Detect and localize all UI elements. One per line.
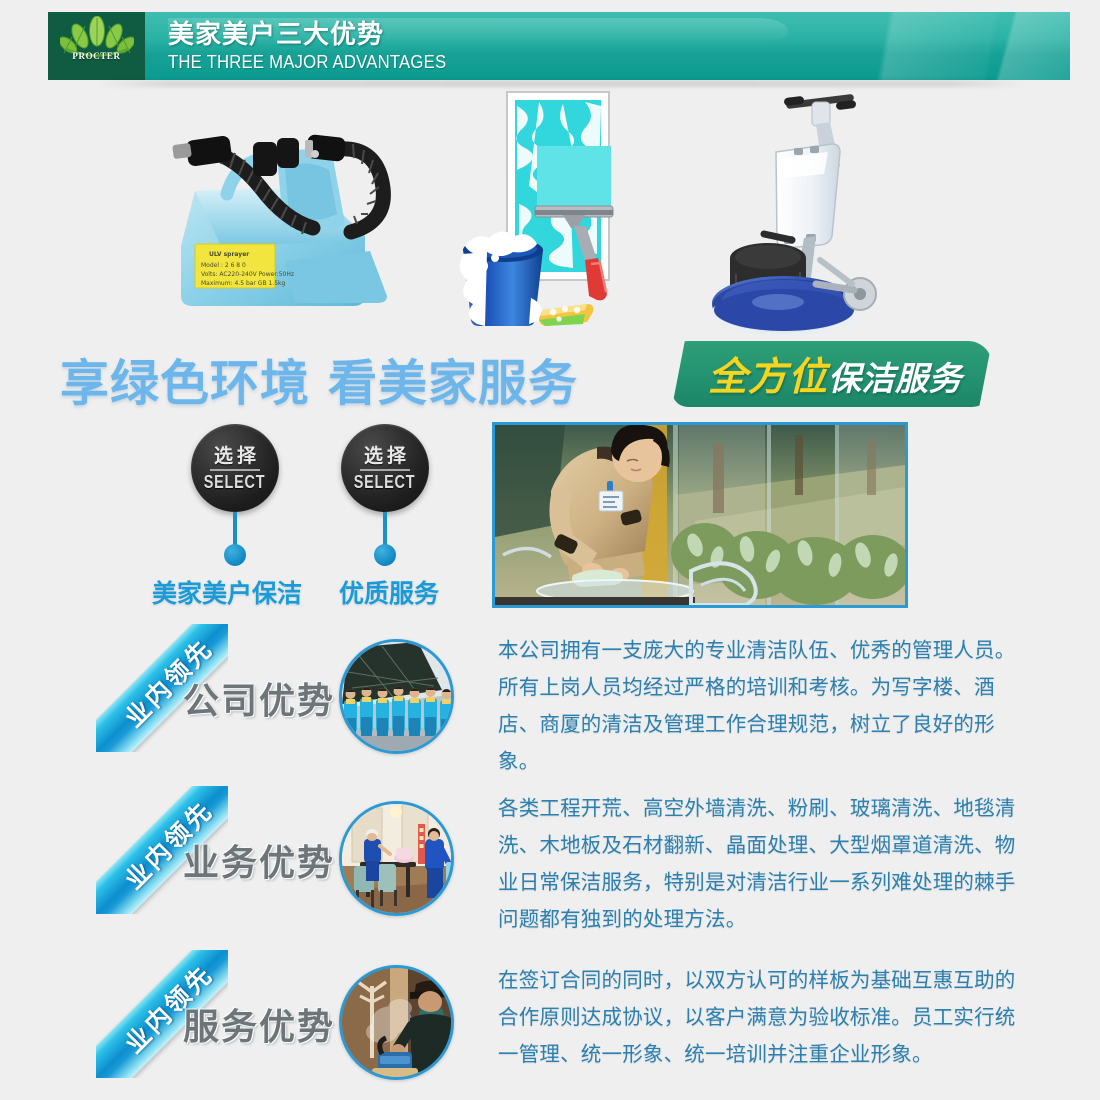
select-badge-2[interactable]: 选择 SELECT 优质服务 xyxy=(310,424,460,512)
advantage-title-business: 业务优势 xyxy=(183,834,335,886)
select-badge-1[interactable]: 选择 SELECT 美家美户保洁 xyxy=(160,424,310,512)
product-image-floor-polisher xyxy=(712,88,937,336)
select-circle-icon[interactable]: 选择 SELECT xyxy=(191,424,279,512)
advantage-text-business: 各类工程开荒、高空外墙清洗、粉刷、玻璃清洗、地毯清洗、木地板及石材翻新、晶面处理… xyxy=(498,790,1018,938)
svg-text:ULV sprayer: ULV sprayer xyxy=(209,251,249,258)
service-badge-rest: 保洁服务 xyxy=(828,352,962,400)
page-header: PROCTER 美家美户三大优势 THE THREE MAJOR ADVANTA… xyxy=(48,12,1070,80)
brand-logo[interactable]: PROCTER xyxy=(48,12,145,80)
header-title-en: THE THREE MAJOR ADVANTAGES xyxy=(168,50,446,74)
header-title-cn: 美家美户三大优势 xyxy=(168,20,467,50)
select-badge-1-en: SELECT xyxy=(204,473,266,492)
advantage-title-service: 服务优势 xyxy=(183,998,335,1050)
advantage-title-company: 公司优势 xyxy=(183,672,335,724)
hero-photo-cleaner xyxy=(492,422,908,608)
advantage-thumb-team xyxy=(339,639,454,754)
header-sheen-right xyxy=(920,12,1070,80)
select-badge-2-label: 优质服务 xyxy=(314,574,464,610)
advantage-text-service: 在签订合同的同时，以双方认可的样板为基础互惠互助的合作原则达成协议，以客户满意为… xyxy=(498,962,1018,1073)
product-image-row: ULV sprayer Model : 2 6 8 0 Volts: AC220… xyxy=(0,88,1100,338)
advantage-block-service: 业内领先 服务优势 xyxy=(0,950,1100,1100)
advantage-thumb-dining-room xyxy=(339,801,454,916)
advantage-block-business: 业内领先 业务优势 xyxy=(0,786,1100,936)
header-titles: 美家美户三大优势 THE THREE MAJOR ADVANTAGES xyxy=(168,20,467,74)
select-circle-icon[interactable]: 选择 SELECT xyxy=(341,424,429,512)
brand-logo-text: PROCTER xyxy=(72,51,120,61)
select-pin-dot-icon xyxy=(224,544,246,566)
page-headline: 享绿色环境 看美家服务 xyxy=(60,344,578,415)
product-image-ulv-sprayer: ULV sprayer Model : 2 6 8 0 Volts: AC220… xyxy=(165,96,400,326)
service-badge: 全方位 保洁服务 xyxy=(672,341,992,407)
advantage-text-company: 本公司拥有一支庞大的专业清洁队伍、优秀的管理人员。所有上岗人员均经过严格的培训和… xyxy=(498,632,1018,780)
select-pin-dot-icon xyxy=(374,544,396,566)
select-badge-2-en: SELECT xyxy=(354,473,416,492)
svg-text:Volts: AC220-240V Power:50Hz: Volts: AC220-240V Power:50Hz xyxy=(201,271,294,278)
select-badge-group: 选择 SELECT 美家美户保洁 选择 SELECT 优质服务 xyxy=(160,424,480,614)
product-image-window-cleaning xyxy=(435,88,685,326)
advantage-block-company: 业内领先 公司优势 xyxy=(0,624,1100,774)
select-badge-1-label: 美家美户保洁 xyxy=(152,574,302,610)
advantage-thumb-spraying xyxy=(339,965,454,1080)
select-badge-2-cn: 选择 xyxy=(360,445,410,471)
service-badge-highlight: 全方位 xyxy=(708,346,828,402)
select-badge-1-cn: 选择 xyxy=(210,445,260,471)
svg-text:Model : 2 6 8 0: Model : 2 6 8 0 xyxy=(201,262,246,269)
header-dropshadow xyxy=(96,80,1026,87)
select-pin-stem xyxy=(383,512,387,547)
advantages-page: PROCTER 美家美户三大优势 THE THREE MAJOR ADVANTA… xyxy=(0,0,1100,1096)
select-pin-stem xyxy=(233,512,237,547)
svg-text:Maximum: 4.5 bar GB 1.5kg: Maximum: 4.5 bar GB 1.5kg xyxy=(201,280,285,287)
